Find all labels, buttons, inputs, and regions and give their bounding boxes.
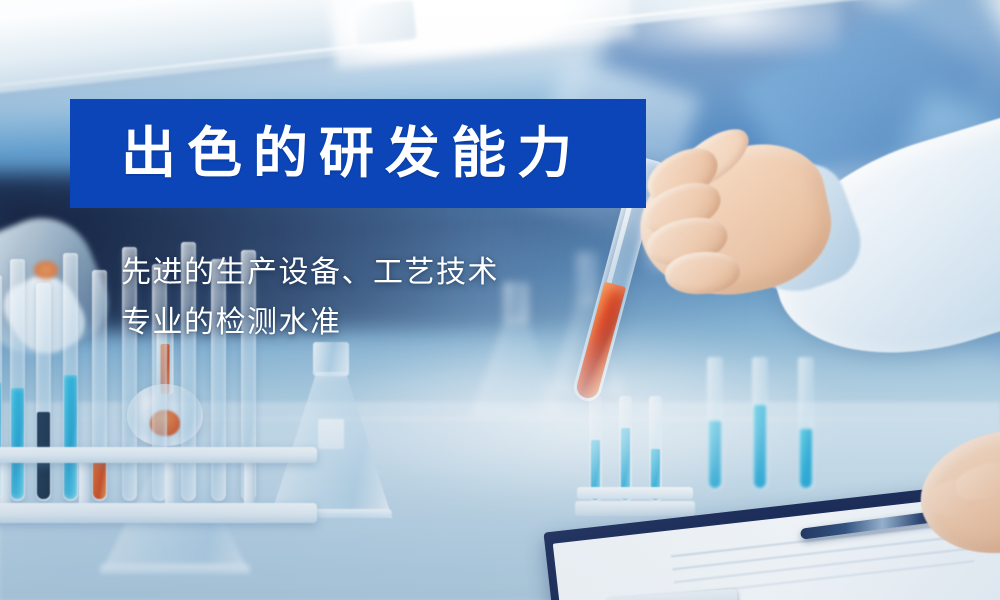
- rack-bar-bottom: [0, 503, 317, 523]
- title-banner-box: 出色的研发能力: [70, 99, 646, 208]
- test-tube: [10, 259, 25, 502]
- depth-of-field-haze: [300, 330, 850, 510]
- subtitle-line-1: 先进的生产设备、工艺技术: [121, 248, 641, 298]
- ceiling-light-fixture: [353, 0, 417, 45]
- subtitle-line-2: 专业的检测水准: [121, 298, 641, 348]
- rack-bar-top: [0, 447, 317, 463]
- hero-banner: 出色的研发能力 先进的生产设备、工艺技术 专业的检测水准: [0, 0, 1000, 600]
- test-tube: [36, 283, 51, 501]
- page-title: 出色的研发能力: [121, 126, 583, 181]
- subtitle-block: 先进的生产设备、工艺技术 专业的检测水准: [121, 248, 641, 348]
- test-tube: [63, 253, 78, 501]
- test-tube: [92, 270, 107, 502]
- ceiling-light-glow-secondary: [620, 0, 840, 54]
